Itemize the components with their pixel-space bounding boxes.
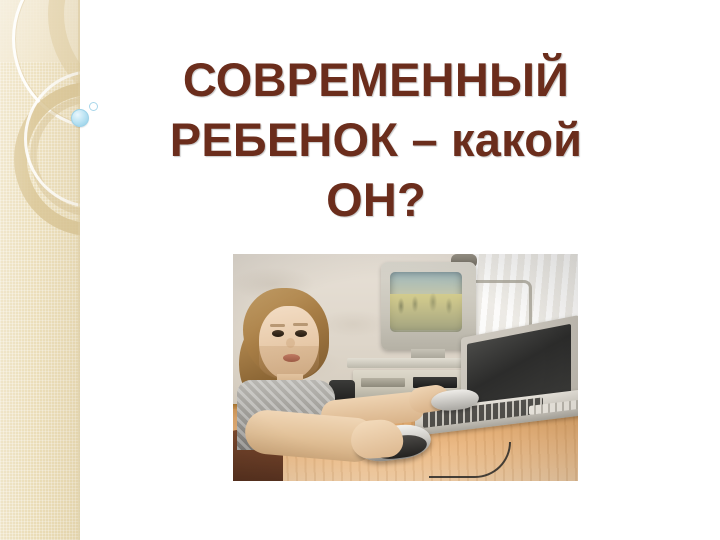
sidebar-edge-line [78,0,80,540]
photo-vignette [233,254,578,481]
slide-photo [233,254,578,481]
slide-canvas: СОВРЕМЕННЫЙ РЕБЕНОК – какой ОН? [0,0,720,540]
decorative-sidebar [0,0,80,540]
slide-title: СОВРЕМЕННЫЙ РЕБЕНОК – какой ОН? [96,50,656,230]
decor-dot-large-icon [71,109,89,127]
